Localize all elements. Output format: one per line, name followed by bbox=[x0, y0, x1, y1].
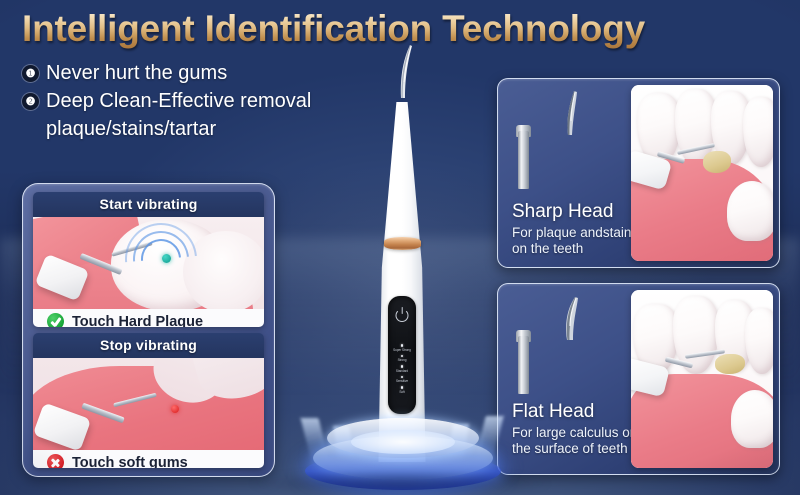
background-vignette bbox=[0, 0, 800, 495]
product-feature-graphic: Intelligent Identification Technology ❶ … bbox=[0, 0, 800, 495]
